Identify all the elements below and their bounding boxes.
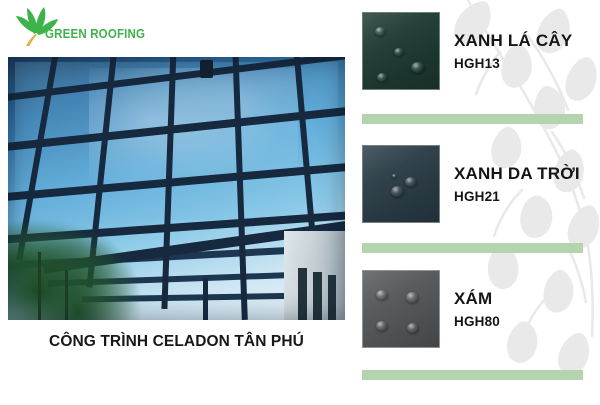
color-swatch-hgh80[interactable] <box>362 270 440 348</box>
water-droplet-icon <box>411 62 425 73</box>
brand-logo[interactable]: GREEN ROOFING <box>14 4 154 46</box>
water-droplet-icon <box>377 73 388 82</box>
color-swatch-hgh13[interactable] <box>362 12 440 90</box>
color-swatch-hgh21[interactable] <box>362 145 440 223</box>
swatch-name: XANH DA TRỜI <box>454 164 580 184</box>
swatch-name: XÁM <box>454 289 500 309</box>
water-droplet-icon <box>375 27 386 36</box>
water-droplet-icon <box>407 323 419 333</box>
photo-caption: CÔNG TRÌNH CELADON TÂN PHÚ <box>8 322 345 362</box>
swatch-row-hgh80[interactable]: XÁM HGH80 <box>362 270 500 348</box>
swatch-name: XANH LÁ CÂY <box>454 31 572 51</box>
water-droplet-icon <box>394 48 404 56</box>
water-droplet-icon <box>376 321 388 331</box>
swatch-row-hgh13[interactable]: XANH LÁ CÂY HGH13 <box>362 12 572 90</box>
brand-name: GREEN ROOFING <box>45 27 145 41</box>
water-droplet-icon <box>405 177 417 187</box>
swatch-code: HGH80 <box>454 314 500 330</box>
color-swatch-panel: XANH LÁ CÂY HGH13 XANH DA TRỜI HGH21 XÁM <box>355 0 600 400</box>
divider-bar-2 <box>362 243 583 253</box>
water-droplet-icon <box>406 292 419 303</box>
swatch-code: HGH21 <box>454 189 580 205</box>
divider-bar-1 <box>362 114 583 124</box>
swatch-row-hgh21[interactable]: XANH DA TRỜI HGH21 <box>362 145 580 223</box>
water-droplet-icon <box>376 290 388 300</box>
water-droplet-icon <box>392 174 397 178</box>
project-photo <box>8 57 345 320</box>
swatch-code: HGH13 <box>454 56 572 72</box>
divider-bar-3 <box>362 370 583 380</box>
water-droplet-icon <box>391 186 404 197</box>
